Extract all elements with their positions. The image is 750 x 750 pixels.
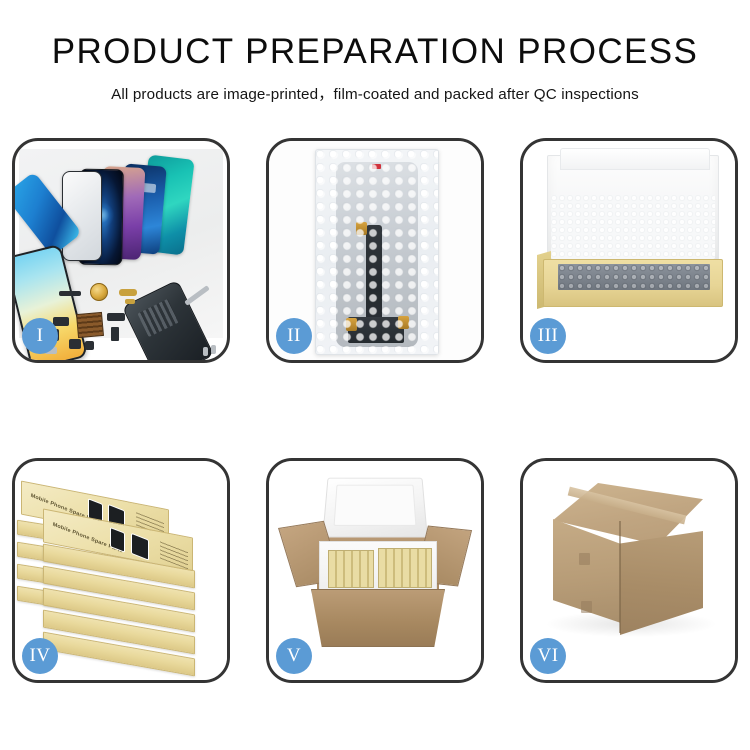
kraft-boxes-group-right	[378, 548, 432, 588]
foam-tray	[319, 541, 437, 593]
screw-2-icon	[211, 345, 216, 354]
foam-lid	[322, 478, 428, 538]
step-badge-4: IV	[22, 638, 58, 674]
process-step-panel-2[interactable]: II	[266, 138, 484, 363]
screw-icon	[203, 347, 208, 356]
flex-cable-icon	[119, 289, 137, 296]
step-badge-5: V	[276, 638, 312, 674]
part-strip-icon	[59, 291, 81, 296]
process-step-panel-1[interactable]: I	[12, 138, 230, 363]
process-steps-grid: I II	[12, 138, 738, 683]
header: PRODUCT PREPARATION PROCESS All products…	[0, 0, 750, 104]
bubble-wrap-bag	[315, 149, 439, 355]
step-badge-2: II	[276, 318, 312, 354]
carton-tab-upper-icon	[579, 553, 590, 565]
process-step-panel-4[interactable]: Mobile Phone Spare Parts Mobile Phone Sp…	[12, 458, 230, 683]
vibrator-icon	[69, 339, 81, 349]
product-preparation-process-infographic: PRODUCT PREPARATION PROCESS All products…	[0, 0, 750, 750]
sim-tray-icon	[111, 327, 119, 341]
screen-flex-cable	[366, 225, 382, 343]
speaker-module-icon	[90, 283, 108, 301]
carton-corner-seam	[619, 521, 621, 633]
kraft-boxes-group-left	[328, 550, 374, 588]
grey-bubble-padding	[558, 264, 710, 290]
carton-front-wall	[311, 589, 445, 647]
page-title: PRODUCT PREPARATION PROCESS	[0, 34, 750, 69]
page-subtitle: All products are image-printed，film-coat…	[0, 82, 750, 104]
gold-contact-tab-2-icon	[346, 318, 357, 331]
white-foam-sheet	[551, 195, 715, 259]
gold-contact-tab-3-icon	[398, 316, 409, 329]
step-badge-3: III	[530, 318, 566, 354]
kraft-box-base	[543, 259, 723, 307]
connector-icon	[53, 317, 69, 326]
button-part-icon	[85, 341, 94, 350]
process-step-panel-5[interactable]: V	[266, 458, 484, 683]
flex-cable-small-icon	[125, 299, 135, 304]
process-step-panel-3[interactable]: III	[520, 138, 738, 363]
carton-tab-lower-icon	[581, 601, 592, 613]
box-screen-graphic-b2	[131, 533, 149, 561]
chip-array-icon	[76, 312, 104, 338]
antenna-flex-icon	[107, 313, 125, 321]
step-badge-1: I	[22, 318, 58, 354]
red-qc-mark-icon	[372, 164, 381, 169]
process-step-panel-6[interactable]: VI	[520, 458, 738, 683]
gold-contact-tab-icon	[356, 222, 367, 235]
step-badge-6: VI	[530, 638, 566, 674]
